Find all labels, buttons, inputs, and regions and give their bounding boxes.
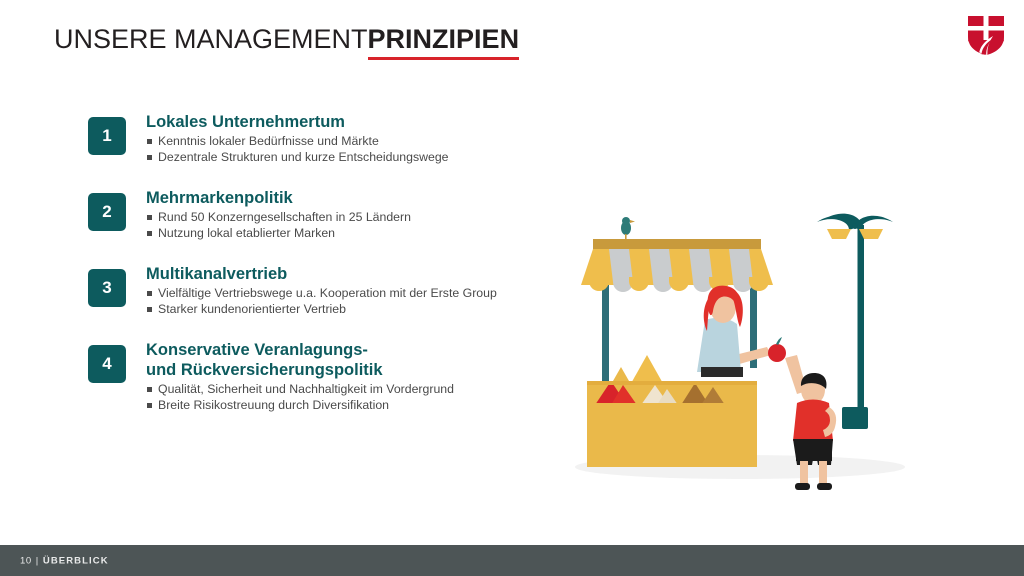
principle-title-3: Multikanalvertrieb bbox=[146, 264, 558, 284]
principle-title-1: Lokales Unternehmertum bbox=[146, 112, 558, 132]
bullet-item: Rund 50 Konzerngesellschaften in 25 Länd… bbox=[146, 209, 558, 225]
principle-title-line: Konservative Veranlagungs- bbox=[146, 340, 558, 360]
market-stall-illustration bbox=[545, 195, 945, 495]
principle-bullets-1: Kenntnis lokaler Bedürfnisse und Märkte … bbox=[146, 133, 558, 165]
footer-bar: 10|ÜBERBLICK bbox=[0, 545, 1024, 576]
principle-title-line: Lokales Unternehmertum bbox=[146, 112, 558, 132]
principle-body-2: Mehrmarkenpolitik Rund 50 Konzerngesells… bbox=[146, 188, 558, 241]
principle-title-line: und Rückversicherungspolitik bbox=[146, 360, 558, 380]
bullet-item: Starker kundenorientierter Vertrieb bbox=[146, 301, 558, 317]
principle-body-4: Konservative Veranlagungs- und Rückversi… bbox=[146, 340, 558, 413]
principle-badge-2: 2 bbox=[88, 193, 126, 231]
slide-root: UNSERE MANAGEMENTPRINZIPIEN 1 Lokales Un… bbox=[0, 0, 1024, 576]
footer-separator: | bbox=[36, 555, 39, 566]
principle-badge-3: 3 bbox=[88, 269, 126, 307]
principle-body-3: Multikanalvertrieb Vielfältige Vertriebs… bbox=[146, 264, 558, 317]
footer-section-name: ÜBERBLICK bbox=[43, 555, 109, 566]
principle-badge-4: 4 bbox=[88, 345, 126, 383]
bullet-item: Nutzung lokal etablierter Marken bbox=[146, 225, 558, 241]
page-title-bold: PRINZIPIEN bbox=[368, 24, 520, 60]
principle-title-2: Mehrmarkenpolitik bbox=[146, 188, 558, 208]
principle-title-4: Konservative Veranlagungs- und Rückversi… bbox=[146, 340, 558, 380]
principle-item-2: 2 Mehrmarkenpolitik Rund 50 Konzerngesel… bbox=[88, 188, 558, 241]
principle-item-1: 1 Lokales Unternehmertum Kenntnis lokale… bbox=[88, 112, 558, 165]
awning-canopy bbox=[581, 249, 773, 292]
principle-item-3: 3 Multikanalvertrieb Vielfältige Vertrie… bbox=[88, 264, 558, 317]
vig-shield-logo bbox=[966, 14, 1006, 56]
footer-label: 10|ÜBERBLICK bbox=[20, 555, 109, 566]
principle-badge-1: 1 bbox=[88, 117, 126, 155]
principle-body-1: Lokales Unternehmertum Kenntnis lokaler … bbox=[146, 112, 558, 165]
principles-list: 1 Lokales Unternehmertum Kenntnis lokale… bbox=[88, 112, 558, 436]
principle-bullets-3: Vielfältige Vertriebswege u.a. Kooperati… bbox=[146, 285, 558, 317]
street-lamp-icon bbox=[817, 214, 893, 429]
awning-bar bbox=[593, 239, 761, 249]
bullet-item: Breite Risikostreuung durch Diversifikat… bbox=[146, 397, 558, 413]
principle-title-line: Mehrmarkenpolitik bbox=[146, 188, 558, 208]
bullet-item: Kenntnis lokaler Bedürfnisse und Märkte bbox=[146, 133, 558, 149]
apple-icon bbox=[768, 337, 786, 362]
footer-page-number: 10 bbox=[20, 555, 32, 566]
bullet-item: Qualität, Sicherheit und Nachhaltigkeit … bbox=[146, 381, 558, 397]
vendor-woman-figure bbox=[697, 286, 771, 377]
bird-icon bbox=[621, 217, 635, 239]
page-title-light: UNSERE MANAGEMENT bbox=[54, 24, 368, 54]
page-title: UNSERE MANAGEMENTPRINZIPIEN bbox=[54, 24, 519, 55]
bullet-item: Dezentrale Strukturen und kurze Entschei… bbox=[146, 149, 558, 165]
principle-bullets-2: Rund 50 Konzerngesellschaften in 25 Länd… bbox=[146, 209, 558, 241]
principle-title-line: Multikanalvertrieb bbox=[146, 264, 558, 284]
bullet-item: Vielfältige Vertriebswege u.a. Kooperati… bbox=[146, 285, 558, 301]
principle-bullets-4: Qualität, Sicherheit und Nachhaltigkeit … bbox=[146, 381, 558, 413]
principle-item-4: 4 Konservative Veranlagungs- und Rückver… bbox=[88, 340, 558, 413]
